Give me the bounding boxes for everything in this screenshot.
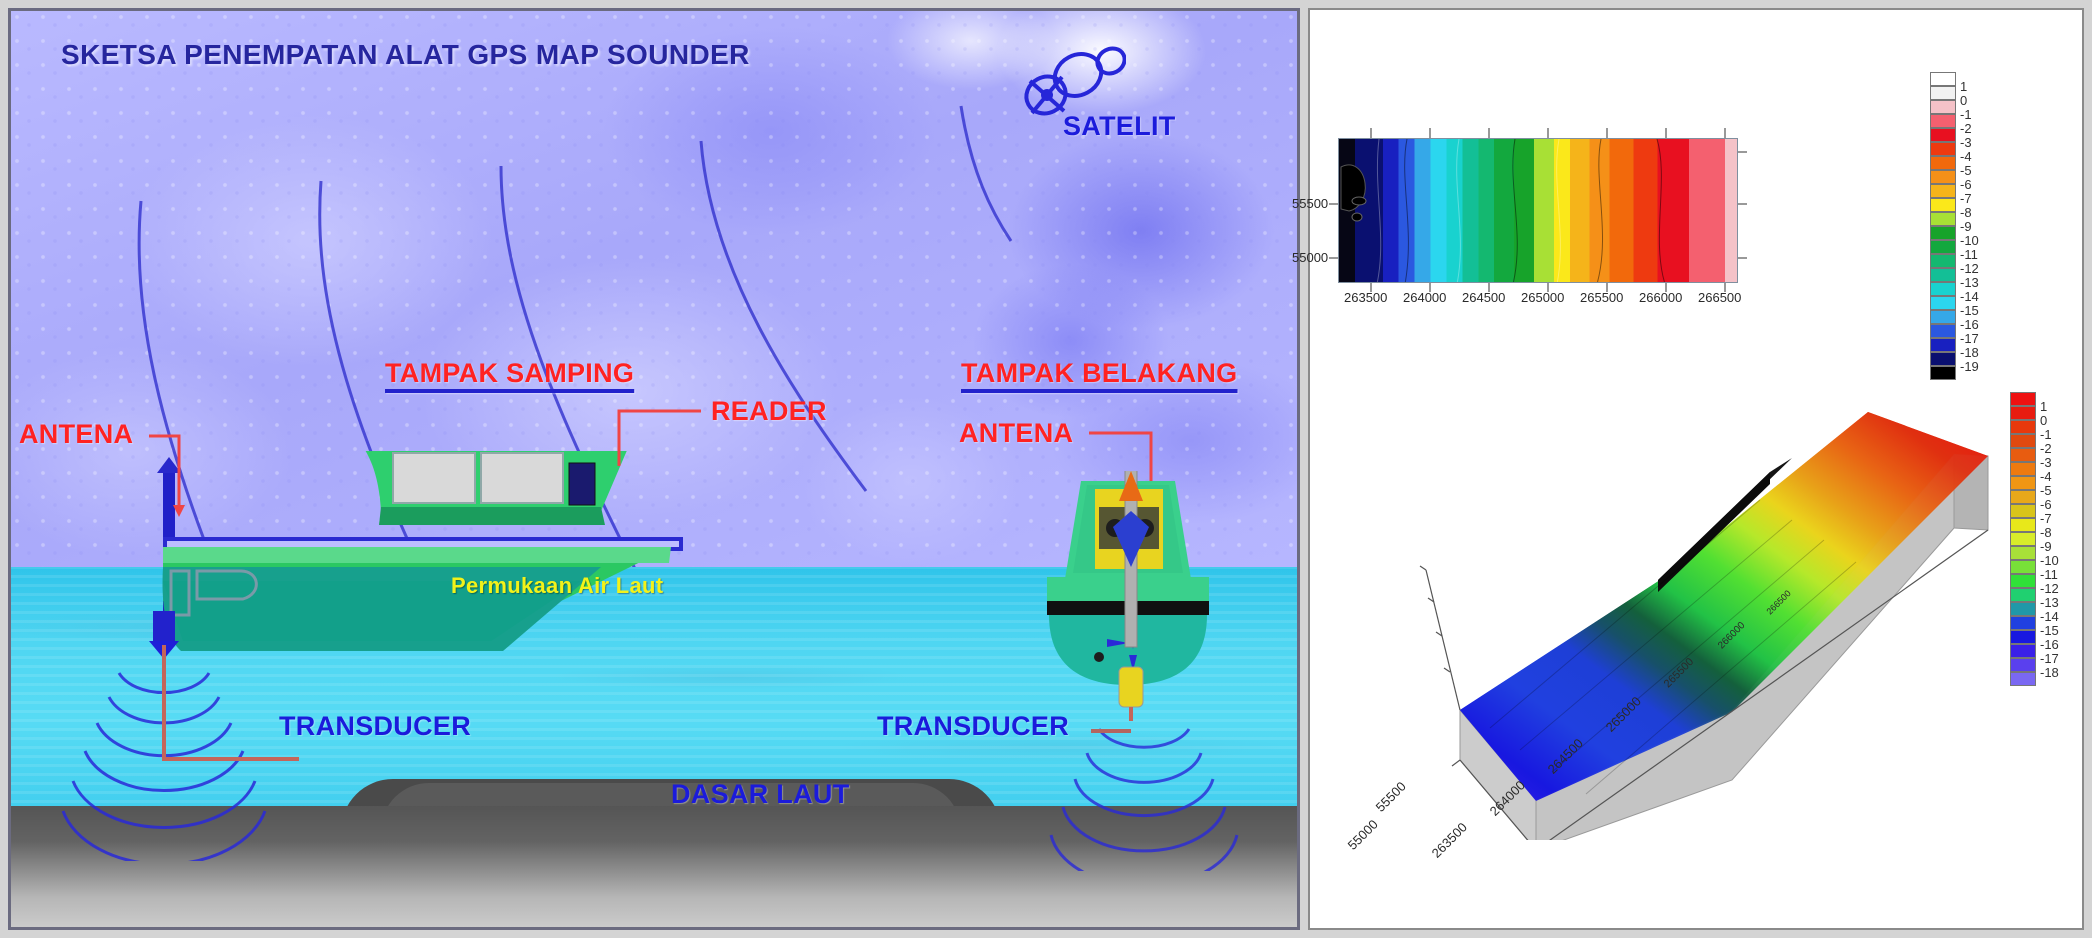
cbar1-label-2: -1 [1960, 107, 1972, 122]
contour-map-plot-area [1338, 138, 1738, 283]
contour-map-colorbar: 1 0 -1 -2 -3 -4 -5 -6 -7 -8 -9 -10 -11 -… [1930, 72, 2000, 372]
cbar1-swatch-9 [1930, 198, 1956, 212]
cbar1-swatch-12 [1930, 240, 1956, 254]
cbar2-swatch-14 [2010, 588, 2036, 602]
contour-x-tick-5: 266000 [1639, 290, 1682, 305]
cbar1-label-15: -14 [1960, 289, 1979, 304]
cbar2-swatch-2 [2010, 420, 2036, 434]
cbar1-swatch-5 [1930, 142, 1956, 156]
contour-map-top-ticks [1338, 128, 1739, 139]
cbar1-label-17: -16 [1960, 317, 1979, 332]
screenshot-root: SATELIT TAMPAK SAMPING TAMPAK BELAKANG [0, 0, 2092, 938]
cbar2-swatch-8 [2010, 504, 2036, 518]
cbar2-label-1: 0 [2040, 413, 2047, 428]
contour-y-tick-1: 55000 [1292, 250, 1328, 265]
cbar1-label-18: -17 [1960, 331, 1979, 346]
cbar2-swatch-1 [2010, 406, 2036, 420]
cbar2-swatch-6 [2010, 476, 2036, 490]
cbar2-label-9: -8 [2040, 525, 2052, 540]
cbar2-swatch-0 [2010, 392, 2036, 406]
contour-map-left-ticks [1329, 138, 1339, 284]
cbar2-swatch-15 [2010, 602, 2036, 616]
sketch-panel: SATELIT TAMPAK SAMPING TAMPAK BELAKANG [8, 8, 1300, 930]
cbar1-label-12: -11 [1960, 247, 1978, 262]
cbar1-label-16: -15 [1960, 303, 1979, 318]
cbar1-swatch-0 [1930, 72, 1956, 86]
contour-map-figure: 263500 264000 264500 265000 265500 26600… [1310, 10, 2086, 350]
cbar1-swatch-4 [1930, 128, 1956, 142]
cbar2-label-18: -17 [2040, 651, 2059, 666]
cbar2-swatch-3 [2010, 434, 2036, 448]
cbar1-label-4: -3 [1960, 135, 1972, 150]
cbar2-label-11: -10 [2040, 553, 2059, 568]
cbar1-swatch-8 [1930, 184, 1956, 198]
label-antena-left: ANTENA [19, 419, 133, 450]
surface-3d-figure: 55000 55500 263500 264000 264500 265000 … [1310, 350, 2086, 930]
cbar2-swatch-11 [2010, 546, 2036, 560]
cbar1-label-9: -8 [1960, 205, 1972, 220]
cbar1-swatch-3 [1930, 114, 1956, 128]
contour-x-tick-4: 265500 [1580, 290, 1623, 305]
cbar2-label-10: -9 [2040, 539, 2052, 554]
cbar1-swatch-1 [1930, 86, 1956, 100]
contour-y-tick-0: 55500 [1292, 196, 1328, 211]
contour-x-tick-3: 265000 [1521, 290, 1564, 305]
cbar1-label-11: -10 [1960, 233, 1979, 248]
label-reader: READER [711, 396, 827, 427]
cbar1-swatch-18 [1930, 324, 1956, 338]
cbar1-swatch-14 [1930, 268, 1956, 282]
cbar2-swatch-12 [2010, 560, 2036, 574]
cbar1-swatch-2 [1930, 100, 1956, 114]
cbar2-label-3: -2 [2040, 441, 2052, 456]
cbar2-label-7: -6 [2040, 497, 2052, 512]
label-antena-right: ANTENA [959, 418, 1073, 449]
label-dasar-laut: DASAR LAUT [671, 779, 850, 810]
cbar1-label-8: -7 [1960, 191, 1972, 206]
cbar2-swatch-13 [2010, 574, 2036, 588]
cbar1-label-6: -5 [1960, 163, 1972, 178]
cbar2-label-8: -7 [2040, 511, 2052, 526]
contour-map-right-ticks [1738, 138, 1748, 284]
plots-panel: 263500 264000 264500 265000 265500 26600… [1308, 8, 2084, 930]
cbar1-swatch-17 [1930, 310, 1956, 324]
cbar1-swatch-15 [1930, 282, 1956, 296]
page-title: SKETSA PENEMPATAN ALAT GPS MAP SOUNDER [61, 39, 750, 71]
contour-x-tick-2: 264500 [1462, 290, 1505, 305]
cbar2-label-19: -18 [2040, 665, 2059, 680]
cbar2-label-12: -11 [2040, 567, 2058, 582]
cbar2-swatch-9 [2010, 518, 2036, 532]
contour-x-tick-0: 263500 [1344, 290, 1387, 305]
cbar2-swatch-5 [2010, 462, 2036, 476]
cbar2-label-2: -1 [2040, 427, 2052, 442]
cbar1-swatch-13 [1930, 254, 1956, 268]
cbar2-swatch-7 [2010, 490, 2036, 504]
cbar1-label-14: -13 [1960, 275, 1979, 290]
label-transducer-right: TRANSDUCER [877, 711, 1069, 742]
contour-x-tick-1: 264000 [1403, 290, 1446, 305]
cbar2-label-17: -16 [2040, 637, 2059, 652]
cbar1-label-3: -2 [1960, 121, 1972, 136]
cbar1-label-10: -9 [1960, 219, 1972, 234]
cbar1-swatch-7 [1930, 170, 1956, 184]
surface-3d-colorbar: 1 0 -1 -2 -3 -4 -5 -6 -7 -8 -9 -10 -11 -… [2010, 392, 2082, 692]
cbar2-label-16: -15 [2040, 623, 2059, 638]
cbar2-swatch-19 [2010, 658, 2036, 672]
cbar2-swatch-16 [2010, 616, 2036, 630]
cbar2-swatch-17 [2010, 630, 2036, 644]
cbar1-swatch-11 [1930, 226, 1956, 240]
surface-3d-plot [1340, 380, 2000, 840]
label-transducer-left: TRANSDUCER [279, 711, 471, 742]
cbar1-swatch-6 [1930, 156, 1956, 170]
cbar2-swatch-20 [2010, 672, 2036, 686]
cbar2-swatch-4 [2010, 448, 2036, 462]
cbar1-label-1: 0 [1960, 93, 1967, 108]
cbar1-label-0: 1 [1960, 79, 1967, 94]
cbar2-label-14: -13 [2040, 595, 2059, 610]
label-permukaan-air-laut: Permukaan Air Laut [451, 573, 663, 599]
cbar2-label-0: 1 [2040, 399, 2047, 414]
cbar2-label-6: -5 [2040, 483, 2052, 498]
cbar2-label-13: -12 [2040, 581, 2059, 596]
contour-x-tick-6: 266500 [1698, 290, 1741, 305]
cbar1-label-5: -4 [1960, 149, 1972, 164]
cbar1-label-13: -12 [1960, 261, 1979, 276]
cbar1-label-7: -6 [1960, 177, 1972, 192]
cbar2-swatch-10 [2010, 532, 2036, 546]
leader-lines [11, 11, 1300, 930]
cbar1-swatch-10 [1930, 212, 1956, 226]
cbar2-swatch-18 [2010, 644, 2036, 658]
cbar1-swatch-16 [1930, 296, 1956, 310]
cbar2-label-5: -4 [2040, 469, 2052, 484]
cbar2-label-15: -14 [2040, 609, 2059, 624]
cbar2-label-4: -3 [2040, 455, 2052, 470]
